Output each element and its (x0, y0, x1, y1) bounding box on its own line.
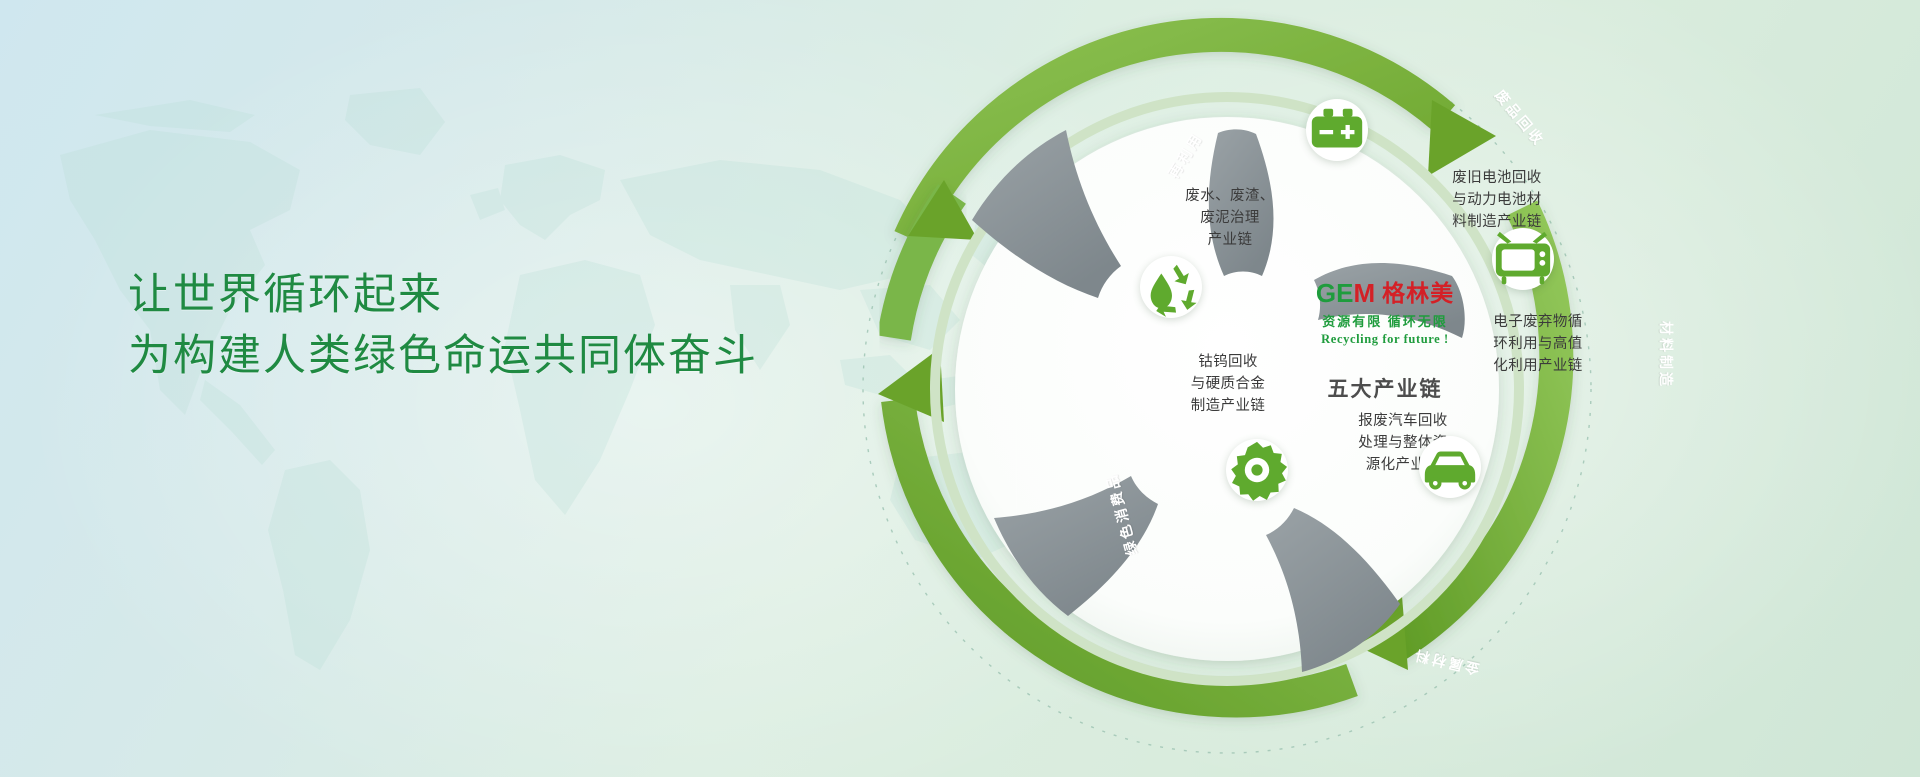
car-icon-bubble (1419, 436, 1481, 498)
headline-line-2: 为构建人类绿色命运共同体奋斗 (128, 326, 758, 387)
recycle-drop-icon-bubble (1140, 256, 1202, 318)
gear-icon (1226, 439, 1288, 501)
headline: 让世界循环起来 为构建人类绿色命运共同体奋斗 (128, 265, 758, 387)
circular-economy-diagram: 废水、废渣、 废泥治理 产业链 废旧电池回收 与动力电池材 料制造产业链 电子废… (832, 8, 1622, 770)
gear-icon-bubble (1226, 439, 1288, 501)
car-icon (1419, 436, 1481, 498)
hero-banner: 让世界循环起来 为构建人类绿色命运共同体奋斗 (0, 0, 1920, 777)
headline-line-1: 让世界循环起来 (128, 265, 758, 326)
ring-label-material: 材料制造 (1656, 321, 1676, 389)
battery-icon-bubble (1306, 99, 1368, 161)
recycle-drop-icon (1140, 256, 1202, 318)
tv-icon (1492, 228, 1554, 290)
battery-icon (1306, 99, 1368, 161)
tv-icon-bubble (1492, 228, 1554, 290)
